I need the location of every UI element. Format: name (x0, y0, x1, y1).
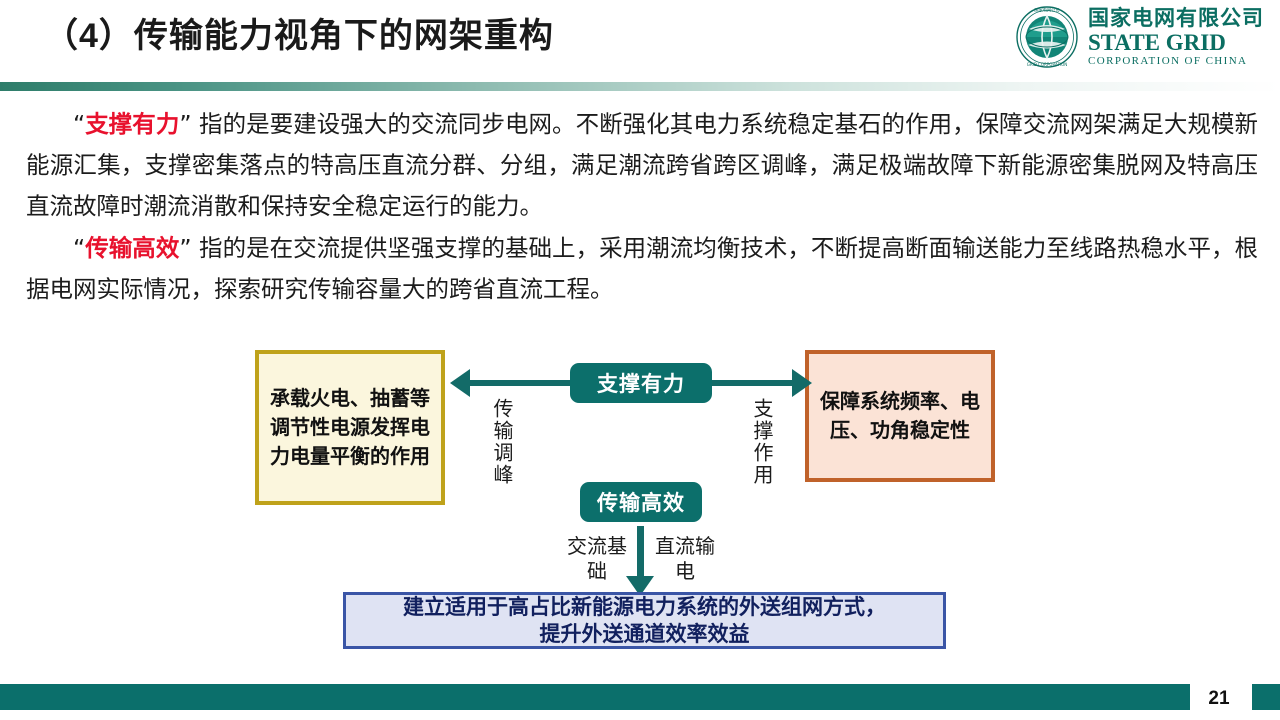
body-copy: “支撑有力” 指的是要建设强大的交流同步电网。不断强化其电力系统稳定基石的作用，… (26, 104, 1258, 310)
brand-name-en: STATE GRID (1088, 31, 1264, 54)
paragraph-efficient-text: 指的是在交流提供坚强支撑的基础上，采用潮流均衡技术，不断提高断面输送能力至线路热… (26, 234, 1258, 303)
diagram-box-left: 承载火电、抽蓄等调节性电源发挥电力电量平衡的作用 (255, 350, 445, 505)
svg-text:GRID CORPORATION: GRID CORPORATION (1027, 62, 1068, 67)
diagram-box-conclusion: 建立适用于高占比新能源电力系统的外送组网方式， 提升外送通道效率效益 (343, 592, 946, 649)
diagram-box-right: 保障系统频率、电压、功角稳定性 (805, 350, 995, 482)
label-transmission-peak: 传输调峰 (489, 398, 514, 486)
paragraph-support: “支撑有力” 指的是要建设强大的交流同步电网。不断强化其电力系统稳定基石的作用，… (26, 104, 1258, 227)
brand-text-block: 国家电网有限公司 STATE GRID CORPORATION OF CHINA (1088, 8, 1264, 67)
page-number: 21 (1202, 688, 1236, 710)
globe-emblem-icon: 国家电网公司 GRID CORPORATION (1015, 5, 1079, 69)
highlight-efficient: 传输高效 (85, 234, 179, 262)
quote-close-1: ” (179, 110, 191, 138)
label-support-role: 支撑作用 (749, 398, 774, 486)
conclusion-line-2: 提升外送通道效率效益 (403, 621, 886, 648)
state-grid-logo: 国家电网公司 GRID CORPORATION 国家电网有限公司 STATE G… (1015, 4, 1264, 70)
brand-name-cn: 国家电网有限公司 (1088, 8, 1264, 29)
footer-bar-accent (1252, 684, 1280, 710)
slide-header: （4）传输能力视角下的网架重构 国家电网公司 GRID CORPORATION … (0, 0, 1280, 92)
header-divider (0, 82, 1280, 91)
arrow-left-shaft (464, 380, 570, 386)
arrow-right-icon (792, 369, 812, 397)
arrow-down-shaft (637, 526, 644, 578)
quote-open-2: “ (73, 234, 85, 262)
brand-subtitle-en: CORPORATION OF CHINA (1088, 56, 1264, 67)
label-dc-transmission: 直流输电 (651, 534, 719, 584)
quote-close-2: ” (179, 234, 191, 262)
footer-bar (0, 684, 1190, 710)
badge-efficient: 传输高效 (580, 482, 702, 522)
page-title: （4）传输能力视角下的网架重构 (44, 8, 554, 57)
quote-open-1: “ (73, 110, 85, 138)
conclusion-line-1: 建立适用于高占比新能源电力系统的外送组网方式， (403, 594, 886, 621)
badge-support: 支撑有力 (570, 363, 712, 403)
label-ac-basis: 交流基础 (563, 534, 631, 584)
arrow-left-icon (450, 369, 470, 397)
paragraph-efficient: “传输高效” 指的是在交流提供坚强支撑的基础上，采用潮流均衡技术，不断提高断面输… (26, 228, 1258, 310)
concept-diagram: 承载火电、抽蓄等调节性电源发挥电力电量平衡的作用 保障系统频率、电压、功角稳定性… (0, 330, 1280, 670)
svg-text:国家电网公司: 国家电网公司 (1034, 7, 1059, 14)
paragraph-support-text: 指的是要建设强大的交流同步电网。不断强化其电力系统稳定基石的作用，保障交流网架满… (26, 110, 1258, 220)
arrow-right-shaft (712, 380, 798, 386)
highlight-support: 支撑有力 (85, 110, 179, 138)
